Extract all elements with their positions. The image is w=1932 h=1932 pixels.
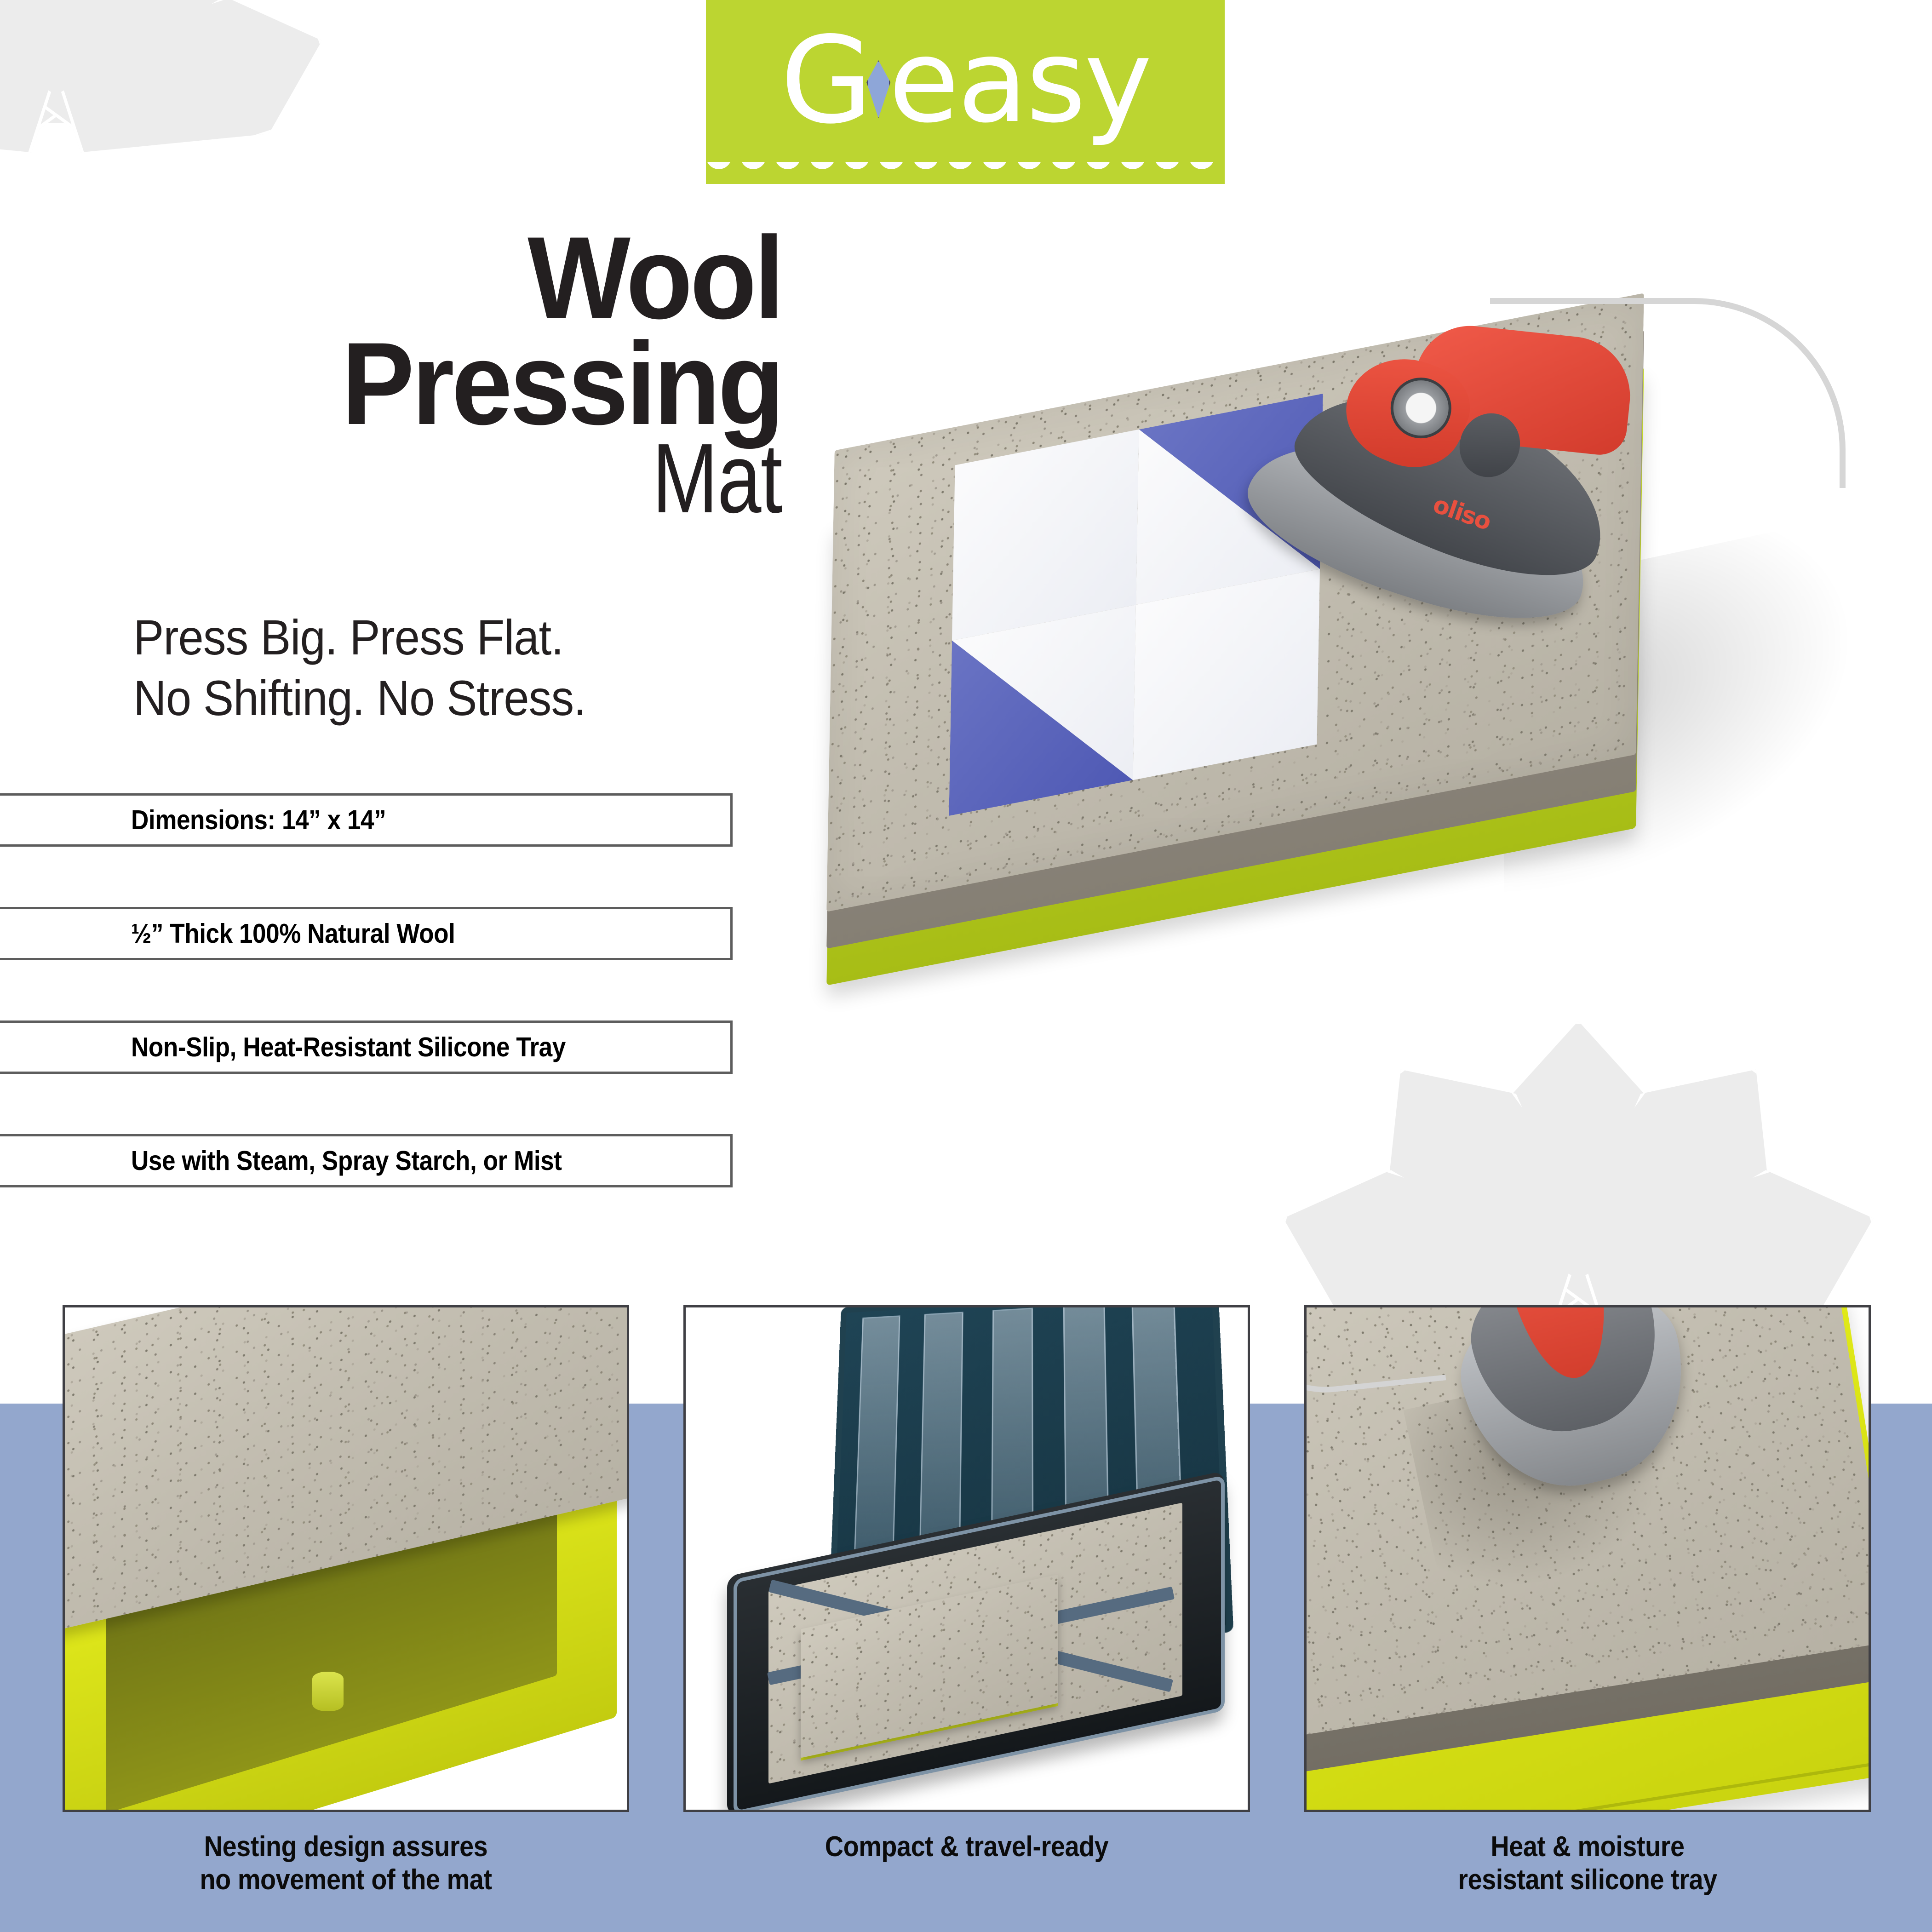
title-line-1: Wool xyxy=(140,225,782,331)
caption-line-2: no movement of the mat xyxy=(91,1863,601,1897)
tagline: Press Big. Press Flat. No Shifting. No S… xyxy=(133,607,734,728)
feature-text: Dimensions: 14” x 14” xyxy=(131,804,386,836)
feature-bar-silicone-tray: Non-Slip, Heat-Resistant Silicone Tray xyxy=(0,1020,733,1074)
caption-line-1: Nesting design assures xyxy=(91,1830,601,1863)
tagline-line-2: No Shifting. No Stress. xyxy=(133,668,734,728)
caption-line-1: Compact & travel-ready xyxy=(712,1830,1222,1863)
brand-banner-scallop-edge xyxy=(706,156,1225,184)
panel-caption-nesting: Nesting design assures no movement of th… xyxy=(91,1830,601,1897)
nesting-closeup-photo xyxy=(65,1307,627,1810)
title-line-3: Mat xyxy=(230,433,782,524)
brand-logo-g: G xyxy=(780,11,871,150)
brand-logo: G easy xyxy=(706,12,1225,150)
heat-moisture-photo xyxy=(1307,1307,1869,1810)
caption-line-1: Heat & moisture xyxy=(1333,1830,1843,1863)
panel-nesting-design xyxy=(63,1305,629,1812)
feature-bar-dimensions: Dimensions: 14” x 14” xyxy=(0,793,733,847)
caption-line-2: resistant silicone tray xyxy=(1333,1863,1843,1897)
panel-travel-case xyxy=(683,1305,1250,1812)
tray-alignment-peg xyxy=(312,1672,344,1711)
feature-bar-usage: Use with Steam, Spray Starch, or Mist xyxy=(0,1134,733,1187)
panel-caption-heat: Heat & moisture resistant silicone tray xyxy=(1333,1830,1843,1897)
panel-heat-moisture xyxy=(1304,1305,1871,1812)
brand-logo-easy: easy xyxy=(889,14,1150,148)
title-line-2: Pressing xyxy=(140,331,782,437)
feature-text: ½” Thick 100% Natural Wool xyxy=(131,918,455,949)
tagline-line-1: Press Big. Press Flat. xyxy=(133,607,734,668)
panel-caption-travel: Compact & travel-ready xyxy=(712,1830,1222,1863)
page-title: Wool Pressing Mat xyxy=(92,225,782,524)
feature-text: Non-Slip, Heat-Resistant Silicone Tray xyxy=(131,1032,566,1063)
infographic-page: G easy Wool Pressing Mat Press Big. Pres… xyxy=(0,0,1932,1932)
feature-bar-thickness: ½” Thick 100% Natural Wool xyxy=(0,907,733,960)
hero-product-photo: oliso xyxy=(814,294,1863,966)
travel-case-photo xyxy=(686,1307,1248,1810)
hero-quilt-block xyxy=(949,394,1323,816)
feature-text: Use with Steam, Spray Starch, or Mist xyxy=(131,1145,562,1176)
